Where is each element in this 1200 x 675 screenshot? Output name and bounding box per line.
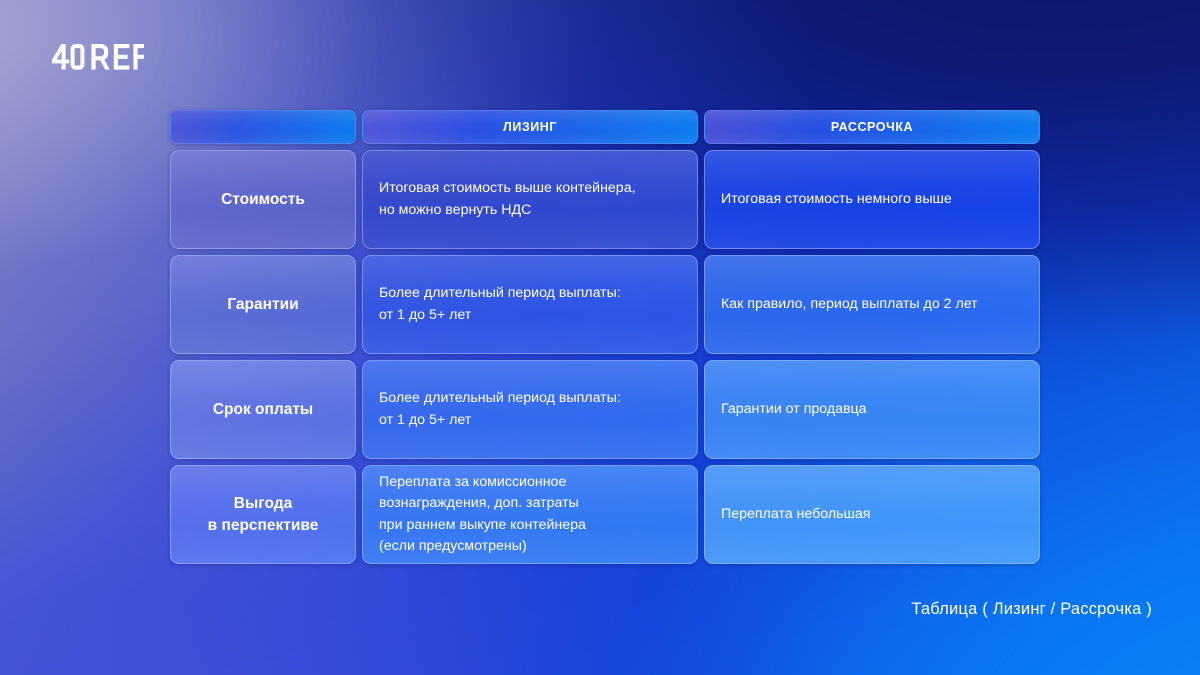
table-row: Гарантии Более длительный период выплаты…	[170, 255, 1034, 354]
table-cell-leasing-text: Более длительный период выплаты: от 1 до…	[379, 388, 621, 430]
table-row-label-cell: Выгода в перспективе	[170, 465, 356, 564]
table-cell-leasing: Более длительный период выплаты: от 1 до…	[362, 360, 698, 459]
table-cell-installment: Как правило, период выплаты до 2 лет	[704, 255, 1040, 354]
table-cell-installment: Гарантии от продавца	[704, 360, 1040, 459]
table-row-label: Гарантии	[227, 294, 298, 316]
table-row: Стоимость Итоговая стоимость выше контей…	[170, 150, 1034, 249]
table-cell-installment-text: Как правило, период выплаты до 2 лет	[721, 294, 978, 315]
slide-caption: Таблица ( Лизинг / Рассрочка )	[911, 600, 1152, 619]
table-row-label-cell: Гарантии	[170, 255, 356, 354]
table-cell-leasing-text: Переплата за комиссионное вознаграждения…	[379, 472, 586, 556]
table-cell-leasing-text: Более длительный период выплаты: от 1 до…	[379, 283, 621, 325]
table-row-label: Выгода в перспективе	[208, 493, 319, 537]
table-row-label: Стоимость	[221, 189, 305, 211]
table-cell-leasing-text: Итоговая стоимость выше контейнера, но м…	[379, 178, 636, 220]
brand-logo[interactable]	[52, 44, 144, 70]
table-header-cell-leasing[interactable]: ЛИЗИНГ	[362, 110, 698, 144]
slide-canvas: ЛИЗИНГ РАССРОЧКА Стоимость Итоговая стои…	[0, 0, 1200, 675]
table-cell-installment-text: Переплата небольшая	[721, 504, 870, 525]
table-cell-leasing: Более длительный период выплаты: от 1 до…	[362, 255, 698, 354]
table-cell-installment-text: Гарантии от продавца	[721, 399, 867, 420]
table-cell-leasing: Итоговая стоимость выше контейнера, но м…	[362, 150, 698, 249]
table-row-label: Срок оплаты	[213, 399, 313, 421]
table-cell-installment-text: Итоговая стоимость немного выше	[721, 189, 952, 210]
table-header-label-installment: РАССРОЧКА	[831, 120, 913, 134]
table-header-label-leasing: ЛИЗИНГ	[503, 120, 557, 134]
table-header-cell-blank	[170, 110, 356, 144]
table-header-row: ЛИЗИНГ РАССРОЧКА	[170, 110, 1034, 144]
table-header-cell-installment[interactable]: РАССРОЧКА	[704, 110, 1040, 144]
table-row-label-cell: Срок оплаты	[170, 360, 356, 459]
table-row: Выгода в перспективе Переплата за комисс…	[170, 465, 1034, 564]
brand-wordmark-icon	[52, 44, 144, 70]
table-row-label-cell: Стоимость	[170, 150, 356, 249]
table-row: Срок оплаты Более длительный период выпл…	[170, 360, 1034, 459]
table-cell-installment: Переплата небольшая	[704, 465, 1040, 564]
comparison-table: ЛИЗИНГ РАССРОЧКА Стоимость Итоговая стои…	[170, 110, 1034, 564]
table-cell-leasing: Переплата за комиссионное вознаграждения…	[362, 465, 698, 564]
table-cell-installment: Итоговая стоимость немного выше	[704, 150, 1040, 249]
